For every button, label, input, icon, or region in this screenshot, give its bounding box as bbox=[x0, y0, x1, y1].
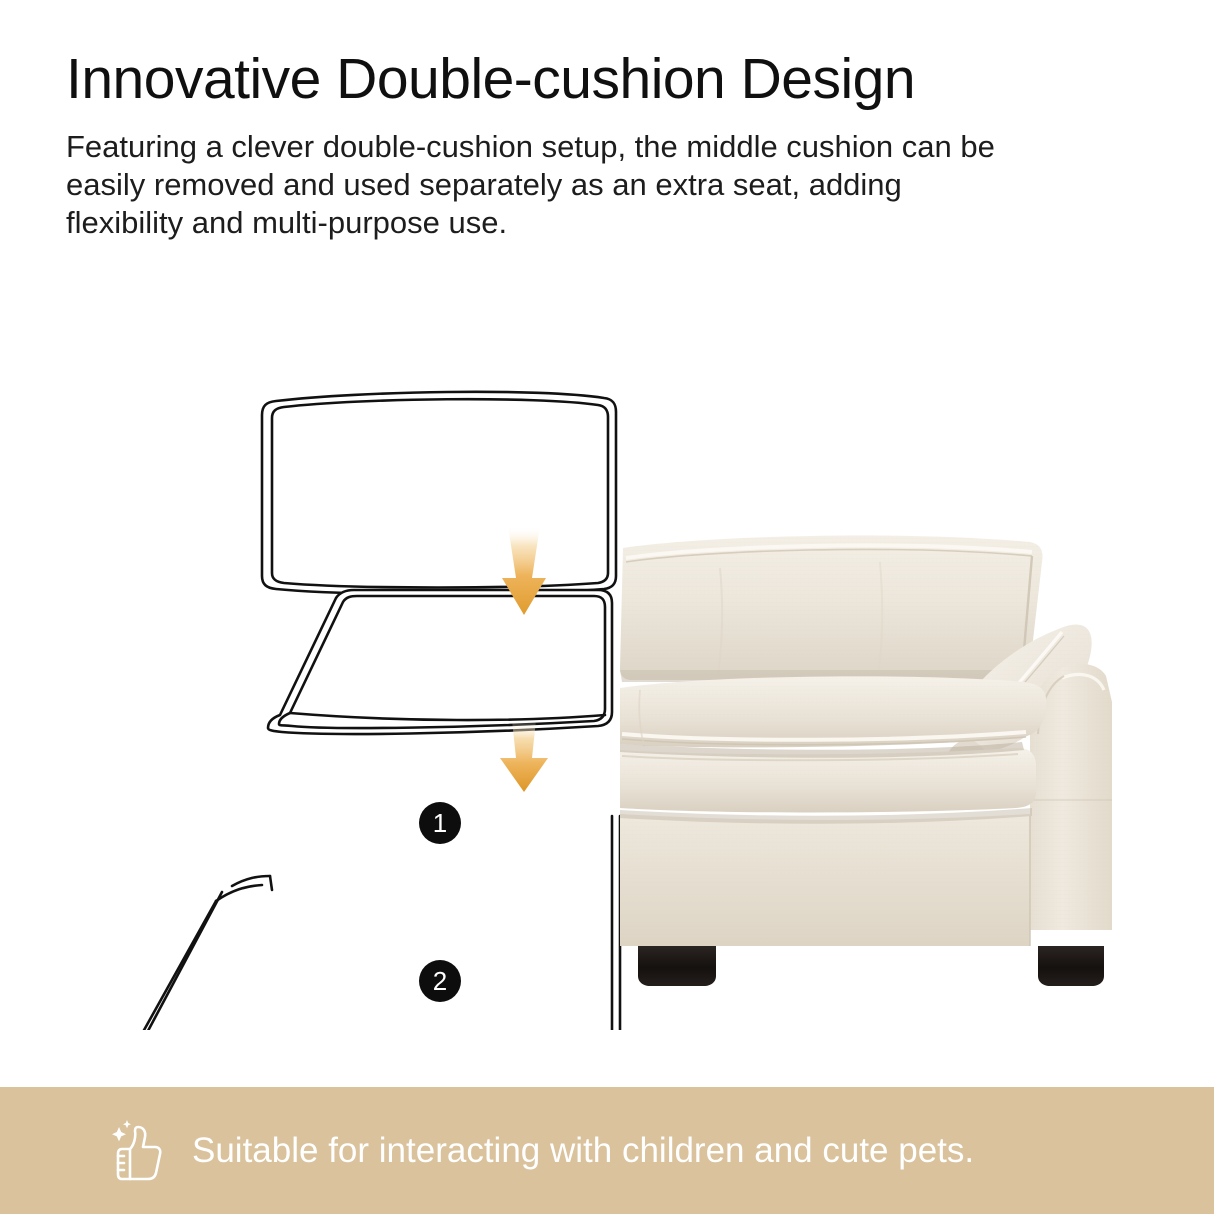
line-drawing-sofa bbox=[63, 392, 620, 1030]
sparkle-glyphs bbox=[112, 1120, 131, 1141]
photo-seat-cushion-upper bbox=[620, 676, 1046, 747]
thumbs-up-sparkle-icon bbox=[104, 1115, 176, 1187]
diagram-badge-1: 1 bbox=[419, 802, 461, 844]
photo-seat-cushion-lower bbox=[620, 742, 1036, 813]
photo-back-cushion bbox=[620, 535, 1043, 682]
page-title: Innovative Double-cushion Design bbox=[66, 48, 1086, 110]
photo-base bbox=[620, 808, 1032, 946]
drawing-back-cushion bbox=[262, 392, 616, 594]
page-subtitle: Featuring a clever double-cushion setup,… bbox=[66, 110, 1016, 242]
infographic-page: Innovative Double-cushion Design Featuri… bbox=[0, 0, 1214, 1214]
product-photo-sofa bbox=[620, 535, 1112, 986]
diagram-badge-2: 2 bbox=[419, 960, 461, 1002]
drawing-sofa-frame bbox=[63, 816, 620, 1030]
drawing-seat-cushion bbox=[268, 590, 612, 734]
sofa-illustration-svg bbox=[0, 330, 1214, 1030]
photo-feet bbox=[638, 946, 1104, 986]
banner-text: Suitable for interacting with children a… bbox=[192, 1133, 974, 1168]
header-block: Innovative Double-cushion Design Featuri… bbox=[66, 48, 1086, 242]
footer-banner: Suitable for interacting with children a… bbox=[0, 1087, 1214, 1214]
illustration-stage: 1 2 1 2 bbox=[0, 330, 1214, 1030]
